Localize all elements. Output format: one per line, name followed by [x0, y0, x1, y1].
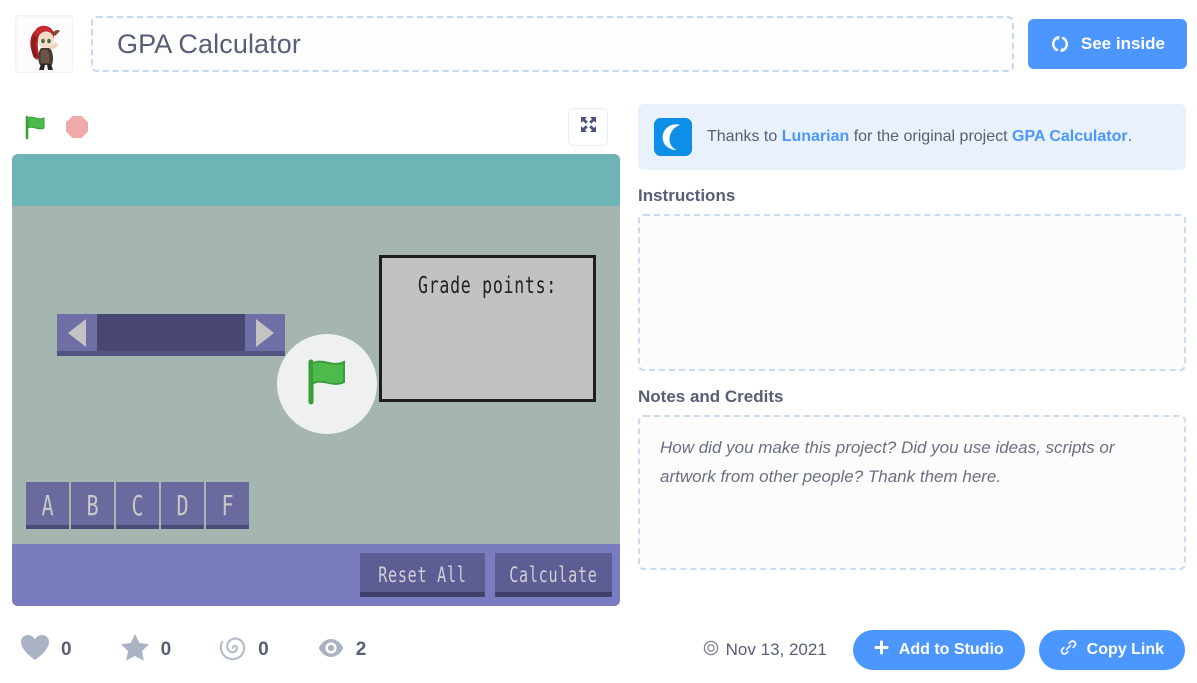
clock-icon [703, 640, 719, 661]
grade-button-d[interactable]: D [161, 482, 204, 529]
stat-loves[interactable]: 0 [20, 634, 72, 667]
slider-track [97, 314, 245, 352]
copy-link-button[interactable]: Copy Link [1039, 630, 1185, 670]
green-flag-icon[interactable] [22, 113, 50, 141]
start-project-button[interactable] [277, 334, 377, 434]
grade-button-a[interactable]: A [26, 482, 69, 529]
original-author-link[interactable]: Lunarian [782, 128, 850, 145]
project-actions: Nov 13, 2021 Add to Studio Copy Link [703, 626, 1185, 674]
calculate-button[interactable]: Calculate [495, 553, 612, 597]
reset-all-label: Reset All [378, 563, 466, 587]
heart-icon [20, 634, 50, 667]
green-flag-icon [299, 354, 355, 415]
avatar[interactable] [15, 15, 73, 73]
grade-button-label: F [221, 489, 234, 522]
stat-value: 0 [161, 639, 172, 661]
remix-middle: for the original project [849, 128, 1012, 145]
project-stats: 0 0 0 [20, 626, 414, 674]
arrow-right-icon[interactable] [245, 314, 285, 352]
instructions-input[interactable] [638, 214, 1186, 371]
notes-and-credits-input[interactable]: How did you make this project? Did you u… [638, 415, 1186, 570]
avatar-image [16, 16, 73, 73]
shared-date: Nov 13, 2021 [703, 640, 827, 661]
see-inside-label: See inside [1081, 34, 1165, 54]
project-details-column: Thanks to Lunarian for the original proj… [638, 104, 1186, 570]
project-header: GPA Calculator See inside [0, 0, 1197, 88]
stat-views[interactable]: 2 [317, 637, 367, 664]
see-inside-icon [1050, 34, 1070, 54]
stage-sky-background [12, 154, 620, 206]
remix-credit-bar: Thanks to Lunarian for the original proj… [638, 104, 1186, 170]
eye-icon [317, 637, 345, 664]
star-icon [120, 633, 150, 667]
remix-credit-text: Thanks to Lunarian for the original proj… [707, 127, 1132, 148]
link-icon [1060, 639, 1077, 661]
add-to-studio-button[interactable]: Add to Studio [853, 630, 1025, 670]
stat-value: 0 [258, 639, 269, 661]
grade-button-label: B [86, 489, 99, 522]
original-project-link[interactable]: GPA Calculator [1012, 128, 1128, 145]
remix-suffix: . [1128, 128, 1132, 145]
grade-button-b[interactable]: B [71, 482, 114, 529]
stat-favorites[interactable]: 0 [120, 633, 172, 667]
see-inside-button[interactable]: See inside [1028, 19, 1187, 69]
notes-title: Notes and Credits [638, 387, 1186, 407]
instructions-title: Instructions [638, 186, 1186, 206]
project-title-text: GPA Calculator [117, 29, 301, 60]
grade-points-display: Grade points: [379, 255, 596, 402]
project-page: GPA Calculator See inside [0, 0, 1197, 683]
stage-column: Grade points: A [12, 100, 620, 606]
reset-all-button[interactable]: Reset All [360, 553, 485, 597]
stat-value: 2 [356, 639, 367, 661]
grade-letter-buttons: A B C D F [26, 482, 249, 529]
moon-avatar-icon[interactable] [654, 118, 692, 156]
stop-sign-icon[interactable] [64, 114, 90, 140]
remix-prefix: Thanks to [707, 128, 782, 145]
grade-button-c[interactable]: C [116, 482, 159, 529]
stat-remixes[interactable]: 0 [219, 634, 269, 667]
notes-placeholder: How did you make this project? Did you u… [660, 433, 1164, 491]
grade-button-label: C [131, 489, 144, 522]
fullscreen-expand-icon [579, 115, 598, 139]
slider-shadow [57, 351, 285, 356]
shared-date-text: Nov 13, 2021 [726, 640, 827, 660]
calculate-label: Calculate [509, 563, 597, 587]
fullscreen-button[interactable] [568, 108, 608, 146]
grade-button-f[interactable]: F [206, 482, 249, 529]
stage-footer-bar: Reset All Calculate [12, 544, 620, 606]
grade-button-label: D [176, 489, 189, 522]
project-stage[interactable]: Grade points: A [12, 154, 620, 606]
add-to-studio-label: Add to Studio [899, 641, 1004, 659]
credits-slider[interactable] [57, 314, 285, 356]
plus-icon [874, 640, 889, 660]
project-title-input[interactable]: GPA Calculator [91, 16, 1014, 72]
grade-points-label: Grade points: [418, 273, 557, 399]
stage-controls [12, 100, 620, 154]
arrow-left-icon[interactable] [57, 314, 97, 352]
copy-link-label: Copy Link [1087, 641, 1164, 659]
stat-value: 0 [61, 639, 72, 661]
remix-spiral-icon [219, 634, 247, 667]
grade-button-label: A [41, 489, 54, 522]
